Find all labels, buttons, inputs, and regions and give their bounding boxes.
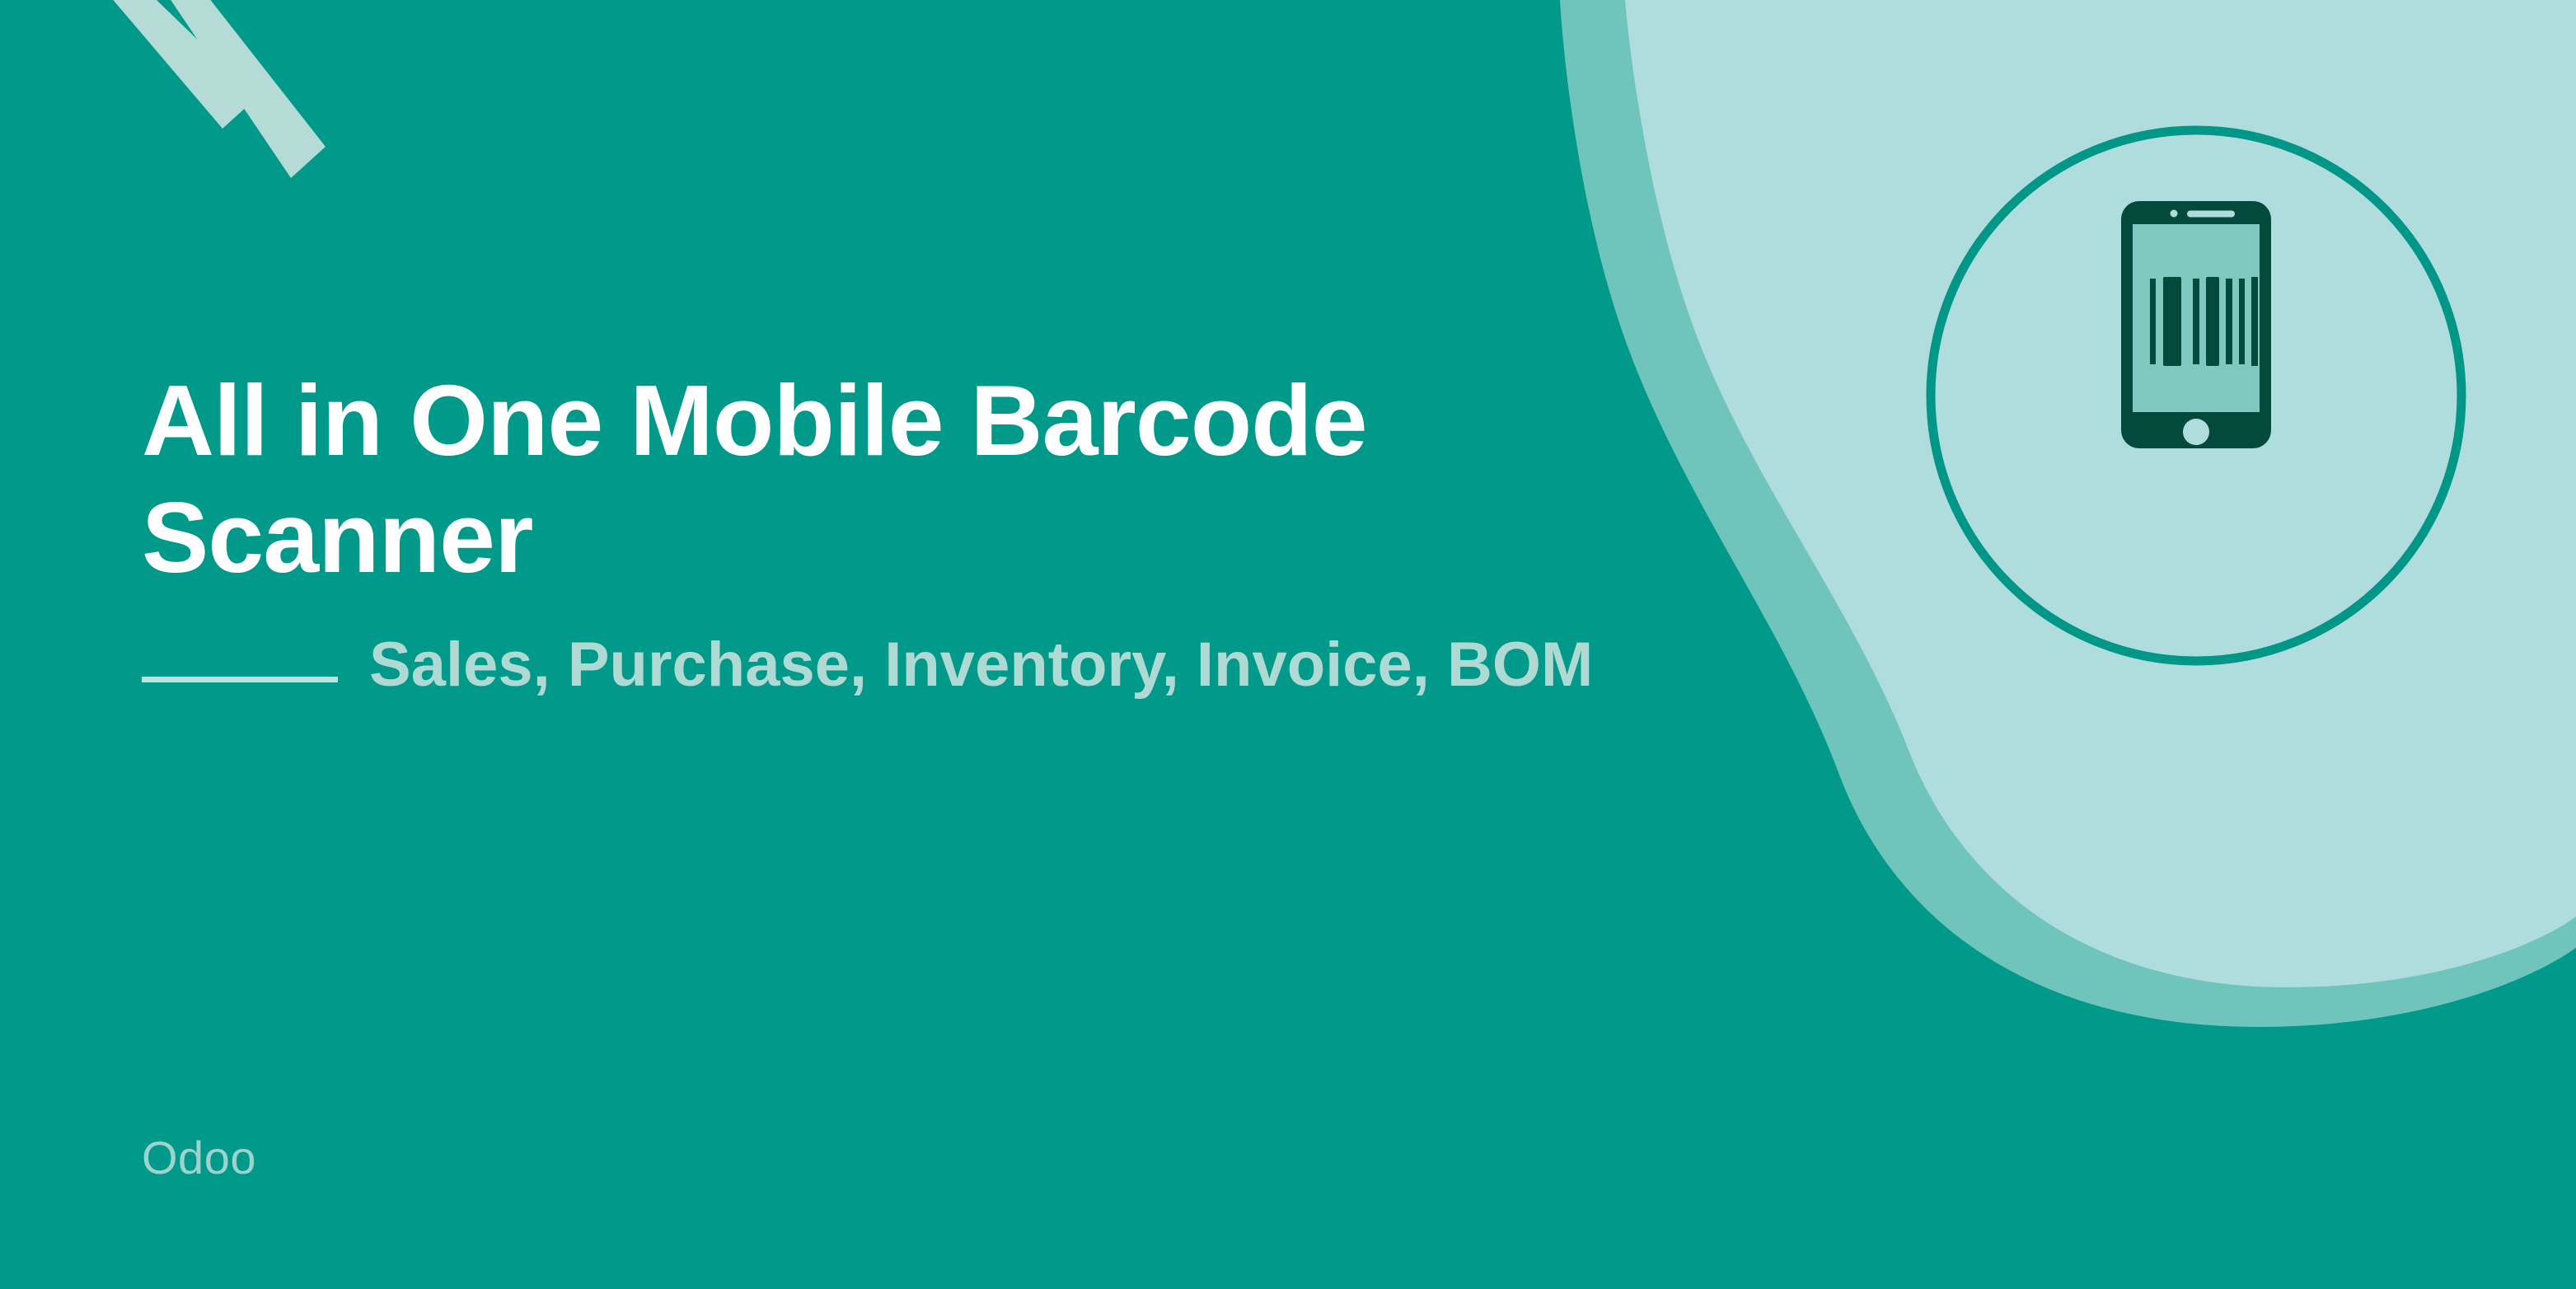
barcode-bar — [2163, 277, 2181, 366]
phone-home-button — [2183, 419, 2209, 445]
subtitle-row: Sales, Purchase, Inventory, Invoice, BOM — [142, 627, 1757, 702]
barcode-bar — [2239, 279, 2245, 364]
brand-label: Odoo — [142, 1131, 256, 1184]
barcode-bar — [2150, 279, 2156, 364]
barcode-bar — [2251, 277, 2258, 366]
barcode-bar — [2226, 279, 2232, 364]
page-title: All in One Mobile Barcode Scanner — [142, 363, 1707, 596]
barcode-bar — [2193, 279, 2199, 364]
barcode-bar — [2206, 277, 2219, 366]
slide-canvas: All in One Mobile Barcode Scanner Sales,… — [0, 0, 2576, 1289]
phone-barcode-icon — [1926, 125, 2466, 666]
page-subtitle: Sales, Purchase, Inventory, Invoice, BOM — [369, 627, 1593, 702]
phone-camera — [2171, 210, 2178, 218]
phone-barcode-svg — [1926, 125, 2466, 666]
text-block: All in One Mobile Barcode Scanner Sales,… — [142, 363, 1757, 702]
phone-speaker — [2187, 211, 2235, 218]
subtitle-dash-rule — [142, 677, 338, 682]
